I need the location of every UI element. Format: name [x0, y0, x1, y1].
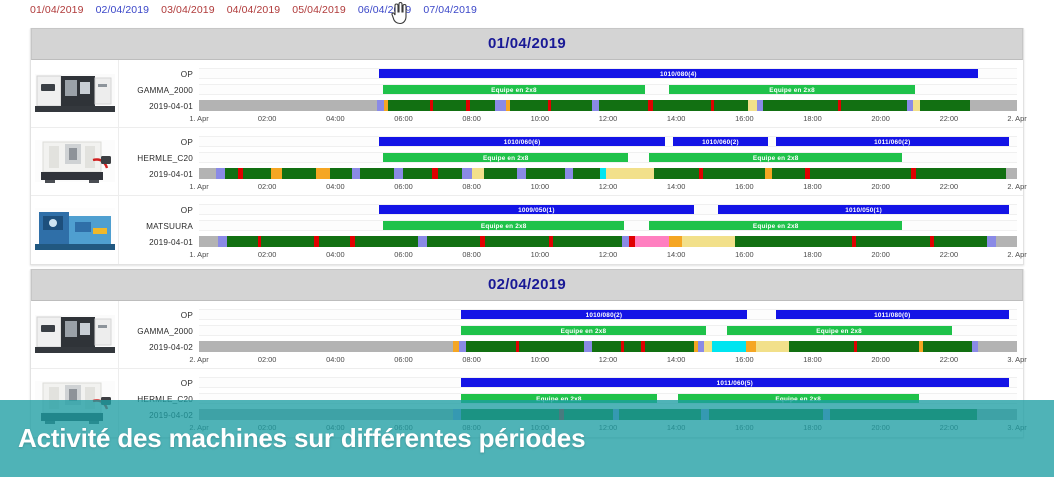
date-link-4[interactable]: 05/04/2019 [292, 4, 346, 16]
state-segment [600, 168, 607, 179]
axis-tick: 10:00 [531, 250, 550, 259]
state-segment [735, 236, 756, 247]
axis-tick: 02:00 [258, 355, 277, 364]
team-bar[interactable]: Equipe en 2x8 [383, 153, 628, 162]
state-segment [856, 236, 930, 247]
axis-tick: 10:00 [531, 114, 550, 123]
axis-tick: 08:00 [462, 182, 481, 191]
axis-tick: 14:00 [667, 114, 686, 123]
machine-row: OPGAMMA_20002019-04-021010/080(2)1011/08… [31, 301, 1023, 369]
time-axis: 2. Apr02:0004:0006:0008:0010:0012:0014:0… [199, 355, 1017, 367]
machine-photo [31, 60, 119, 127]
axis-tick: 16:00 [735, 182, 754, 191]
axis-tick: 06:00 [394, 250, 413, 259]
state-segment [987, 236, 995, 247]
axis-tick: 08:00 [462, 250, 481, 259]
team-bar[interactable]: Equipe en 2x8 [649, 153, 903, 162]
op-bar[interactable]: 1009/050(1) [379, 205, 694, 214]
axis-tick: 20:00 [871, 250, 890, 259]
state-segment [996, 236, 1017, 247]
axis-tick: 18:00 [803, 114, 822, 123]
state-segment [394, 168, 403, 179]
axis-tick: 12:00 [599, 114, 618, 123]
team-bar[interactable]: Equipe en 2x8 [383, 85, 645, 94]
date-link-6[interactable]: 07/04/2019 [423, 4, 477, 16]
axis-tick: 1. Apr [189, 250, 208, 259]
row-labels: OPGAMMA_20002019-04-01 [119, 60, 199, 127]
state-segment [199, 236, 218, 247]
op-bar[interactable]: 1011/060(2) [776, 137, 1009, 146]
op-track: 1010/080(4) [199, 68, 1017, 79]
state-segment [472, 168, 483, 179]
state-segment [746, 341, 756, 352]
axis-tick: 1. Apr [189, 182, 208, 191]
op-bar[interactable]: 1010/080(4) [379, 69, 978, 78]
axis-tick: 02:00 [258, 114, 277, 123]
axis-tick: 18:00 [803, 250, 822, 259]
op-label: OP [181, 311, 193, 320]
row-date: 2019-04-01 [149, 238, 193, 247]
team-bar[interactable]: Equipe en 2x8 [383, 221, 624, 230]
state-segment [810, 168, 911, 179]
gantt-area[interactable]: 1010/080(2)1011/080(0)Equipe en 2x8Equip… [199, 301, 1023, 368]
state-segment [484, 168, 518, 179]
op-track: 1010/080(2)1011/080(0) [199, 309, 1017, 320]
axis-tick: 06:00 [394, 182, 413, 191]
axis-tick: 04:00 [326, 114, 345, 123]
state-segment [282, 168, 316, 179]
axis-tick: 06:00 [394, 114, 413, 123]
state-segment [916, 168, 1006, 179]
state-segment [565, 168, 573, 179]
op-track: 1010/060(6)1010/060(2)1011/060(2) [199, 136, 1017, 147]
team-track: Equipe en 2x8Equipe en 2x8 [199, 325, 1017, 336]
state-segment [1006, 168, 1017, 179]
day-section-title: 02/04/2019 [31, 269, 1023, 301]
date-link-2[interactable]: 03/04/2019 [161, 4, 215, 16]
state-segment [592, 100, 599, 111]
op-label: OP [181, 70, 193, 79]
row-labels: OPGAMMA_20002019-04-02 [119, 301, 199, 368]
state-segment [519, 341, 584, 352]
op-bar[interactable]: 1010/080(2) [461, 310, 747, 319]
axis-tick: 18:00 [803, 182, 822, 191]
date-link-1[interactable]: 02/04/2019 [96, 4, 150, 16]
machine-photo [31, 301, 119, 368]
state-segment [584, 341, 592, 352]
axis-tick: 3. Apr [1007, 355, 1026, 364]
state-segment [772, 168, 806, 179]
op-bar[interactable]: 1010/060(2) [673, 137, 767, 146]
row-date: 2019-04-01 [149, 170, 193, 179]
axis-tick: 14:00 [667, 182, 686, 191]
state-segment [756, 341, 789, 352]
state-segment [459, 341, 466, 352]
axis-tick: 02:00 [258, 250, 277, 259]
state-segment [756, 236, 851, 247]
state-segment [225, 168, 239, 179]
state-segment [352, 168, 360, 179]
state-segment [669, 236, 682, 247]
axis-tick: 2. Apr [189, 355, 208, 364]
state-segment [635, 236, 669, 247]
state-segment [913, 100, 920, 111]
axis-tick: 18:00 [803, 355, 822, 364]
team-bar[interactable]: Equipe en 2x8 [461, 326, 706, 335]
axis-tick: 1. Apr [189, 114, 208, 123]
op-label: OP [181, 206, 193, 215]
state-segment [970, 100, 1017, 111]
state-segment [495, 100, 507, 111]
axis-tick: 04:00 [326, 250, 345, 259]
machine-name: MATSUURA [146, 222, 193, 231]
machine-state-track[interactable] [199, 236, 1017, 247]
machine-photo [31, 128, 119, 195]
state-segment [553, 236, 622, 247]
machine-state-track[interactable] [199, 168, 1017, 179]
machine-state-track[interactable] [199, 341, 1017, 352]
axis-tick: 02:00 [258, 182, 277, 191]
state-segment [624, 341, 640, 352]
state-segment [243, 168, 271, 179]
state-segment [645, 341, 694, 352]
gantt-area[interactable]: 1010/080(4)Equipe en 2x8Equipe en 2x81. … [199, 60, 1023, 127]
state-segment [517, 168, 526, 179]
state-segment [857, 341, 918, 352]
axis-tick: 08:00 [462, 355, 481, 364]
axis-tick: 20:00 [871, 114, 890, 123]
machine-row: OPGAMMA_20002019-04-011010/080(4)Equipe … [31, 60, 1023, 128]
team-track: Equipe en 2x8Equipe en 2x8 [199, 220, 1017, 231]
state-segment [261, 236, 314, 247]
state-segment [748, 100, 757, 111]
state-segment [388, 100, 429, 111]
date-link-3[interactable]: 04/04/2019 [227, 4, 281, 16]
time-axis: 1. Apr02:0004:0006:0008:0010:0012:0014:0… [199, 114, 1017, 126]
state-segment [714, 100, 747, 111]
state-segment [360, 168, 394, 179]
team-track: Equipe en 2x8Equipe en 2x8 [199, 84, 1017, 95]
state-segment [978, 341, 1016, 352]
axis-tick: 2. Apr [1007, 114, 1026, 123]
state-segment [923, 341, 972, 352]
state-segment [438, 168, 463, 179]
row-date: 2019-04-01 [149, 102, 193, 111]
state-segment [462, 168, 472, 179]
day-section-title: 01/04/2019 [31, 28, 1023, 60]
axis-tick: 14:00 [667, 250, 686, 259]
banner-title: Activité des machines sur différentes pé… [0, 423, 585, 454]
row-labels: OPMATSUURA2019-04-01 [119, 196, 199, 264]
state-segment [433, 100, 466, 111]
state-segment [920, 100, 970, 111]
machine-row: OPHERMLE_C202019-04-011010/060(6)1010/06… [31, 128, 1023, 196]
date-link-5[interactable]: 06/04/2019 [358, 4, 412, 16]
op-label: OP [181, 379, 193, 388]
axis-tick: 20:00 [871, 355, 890, 364]
axis-tick: 12:00 [599, 250, 618, 259]
op-bar[interactable]: 1011/080(0) [776, 310, 1009, 319]
state-segment [216, 168, 225, 179]
axis-tick: 12:00 [599, 355, 618, 364]
time-axis: 1. Apr02:0004:0006:0008:0010:0012:0014:0… [199, 182, 1017, 194]
op-track: 1011/060(5) [199, 377, 1017, 388]
axis-tick: 2. Apr [1007, 182, 1026, 191]
machine-state-track[interactable] [199, 100, 1017, 111]
state-segment [470, 100, 495, 111]
state-segment [355, 236, 419, 247]
state-segment [466, 341, 515, 352]
state-segment [789, 341, 854, 352]
axis-tick: 04:00 [326, 182, 345, 191]
team-track: Equipe en 2x8Equipe en 2x8 [199, 152, 1017, 163]
axis-tick: 16:00 [735, 355, 754, 364]
axis-tick: 20:00 [871, 182, 890, 191]
axis-tick: 16:00 [735, 250, 754, 259]
team-bar[interactable]: Equipe en 2x8 [727, 326, 952, 335]
axis-tick: 04:00 [326, 355, 345, 364]
time-axis: 1. Apr02:0004:0006:0008:0010:0012:0014:0… [199, 250, 1017, 262]
axis-tick: 06:00 [394, 355, 413, 364]
state-segment [599, 100, 649, 111]
state-segment [934, 236, 987, 247]
state-segment [551, 100, 592, 111]
state-segment [330, 168, 353, 179]
state-segment [227, 236, 259, 247]
state-segment [526, 168, 564, 179]
overlay-banner: Activité des machines sur différentes pé… [0, 400, 1054, 477]
state-segment [654, 168, 699, 179]
axis-tick: 22:00 [940, 114, 959, 123]
row-labels: OPHERMLE_C202019-04-01 [119, 128, 199, 195]
axis-tick: 08:00 [462, 114, 481, 123]
row-date: 2019-04-02 [149, 343, 193, 352]
state-segment [704, 341, 712, 352]
state-segment [757, 100, 764, 111]
state-segment [573, 168, 600, 179]
state-segment [592, 341, 621, 352]
gantt-area[interactable]: 1010/060(6)1010/060(2)1011/060(2)Equipe … [199, 128, 1023, 195]
state-segment [485, 236, 549, 247]
state-segment [622, 236, 629, 247]
machine-name: HERMLE_C20 [137, 154, 193, 163]
machine-name: GAMMA_2000 [137, 86, 193, 95]
axis-tick: 2. Apr [1007, 250, 1026, 259]
axis-tick: 22:00 [940, 250, 959, 259]
op-bar[interactable]: 1011/060(5) [461, 378, 1009, 387]
axis-tick: 22:00 [940, 355, 959, 364]
axis-tick: 10:00 [531, 355, 550, 364]
machine-name: GAMMA_2000 [137, 327, 193, 336]
state-segment [199, 341, 453, 352]
state-segment [682, 236, 735, 247]
state-segment [271, 168, 282, 179]
team-bar[interactable]: Equipe en 2x8 [669, 85, 914, 94]
state-segment [765, 168, 772, 179]
gantt-area[interactable]: 1009/050(1)1010/050(1)Equipe en 2x8Equip… [199, 196, 1023, 264]
axis-tick: 10:00 [531, 182, 550, 191]
date-nav: 01/04/201902/04/201903/04/201904/04/2019… [0, 0, 1054, 22]
axis-tick: 16:00 [735, 114, 754, 123]
op-bar[interactable]: 1010/060(6) [379, 137, 665, 146]
op-label: OP [181, 138, 193, 147]
team-bar[interactable]: Equipe en 2x8 [649, 221, 903, 230]
state-segment [199, 168, 216, 179]
state-segment [427, 236, 480, 247]
state-segment [199, 100, 377, 111]
machine-row: OPMATSUURA2019-04-011009/050(1)1010/050(… [31, 196, 1023, 264]
date-link-0[interactable]: 01/04/2019 [30, 4, 84, 16]
axis-tick: 22:00 [940, 182, 959, 191]
state-segment [218, 236, 226, 247]
state-segment [377, 100, 384, 111]
axis-tick: 12:00 [599, 182, 618, 191]
state-segment [703, 168, 765, 179]
axis-tick: 14:00 [667, 355, 686, 364]
machine-photo [31, 196, 119, 264]
state-segment [653, 100, 711, 111]
state-segment [418, 236, 426, 247]
state-segment [712, 341, 746, 352]
op-track: 1009/050(1)1010/050(1) [199, 204, 1017, 215]
state-segment [841, 100, 907, 111]
day-section: 01/04/2019OPGAMMA_20002019-04-011010/080… [30, 28, 1024, 265]
state-segment [403, 168, 432, 179]
state-segment [319, 236, 351, 247]
op-bar[interactable]: 1010/050(1) [718, 205, 1008, 214]
state-segment [316, 168, 330, 179]
state-segment [763, 100, 837, 111]
state-segment [510, 100, 547, 111]
state-segment [606, 168, 653, 179]
